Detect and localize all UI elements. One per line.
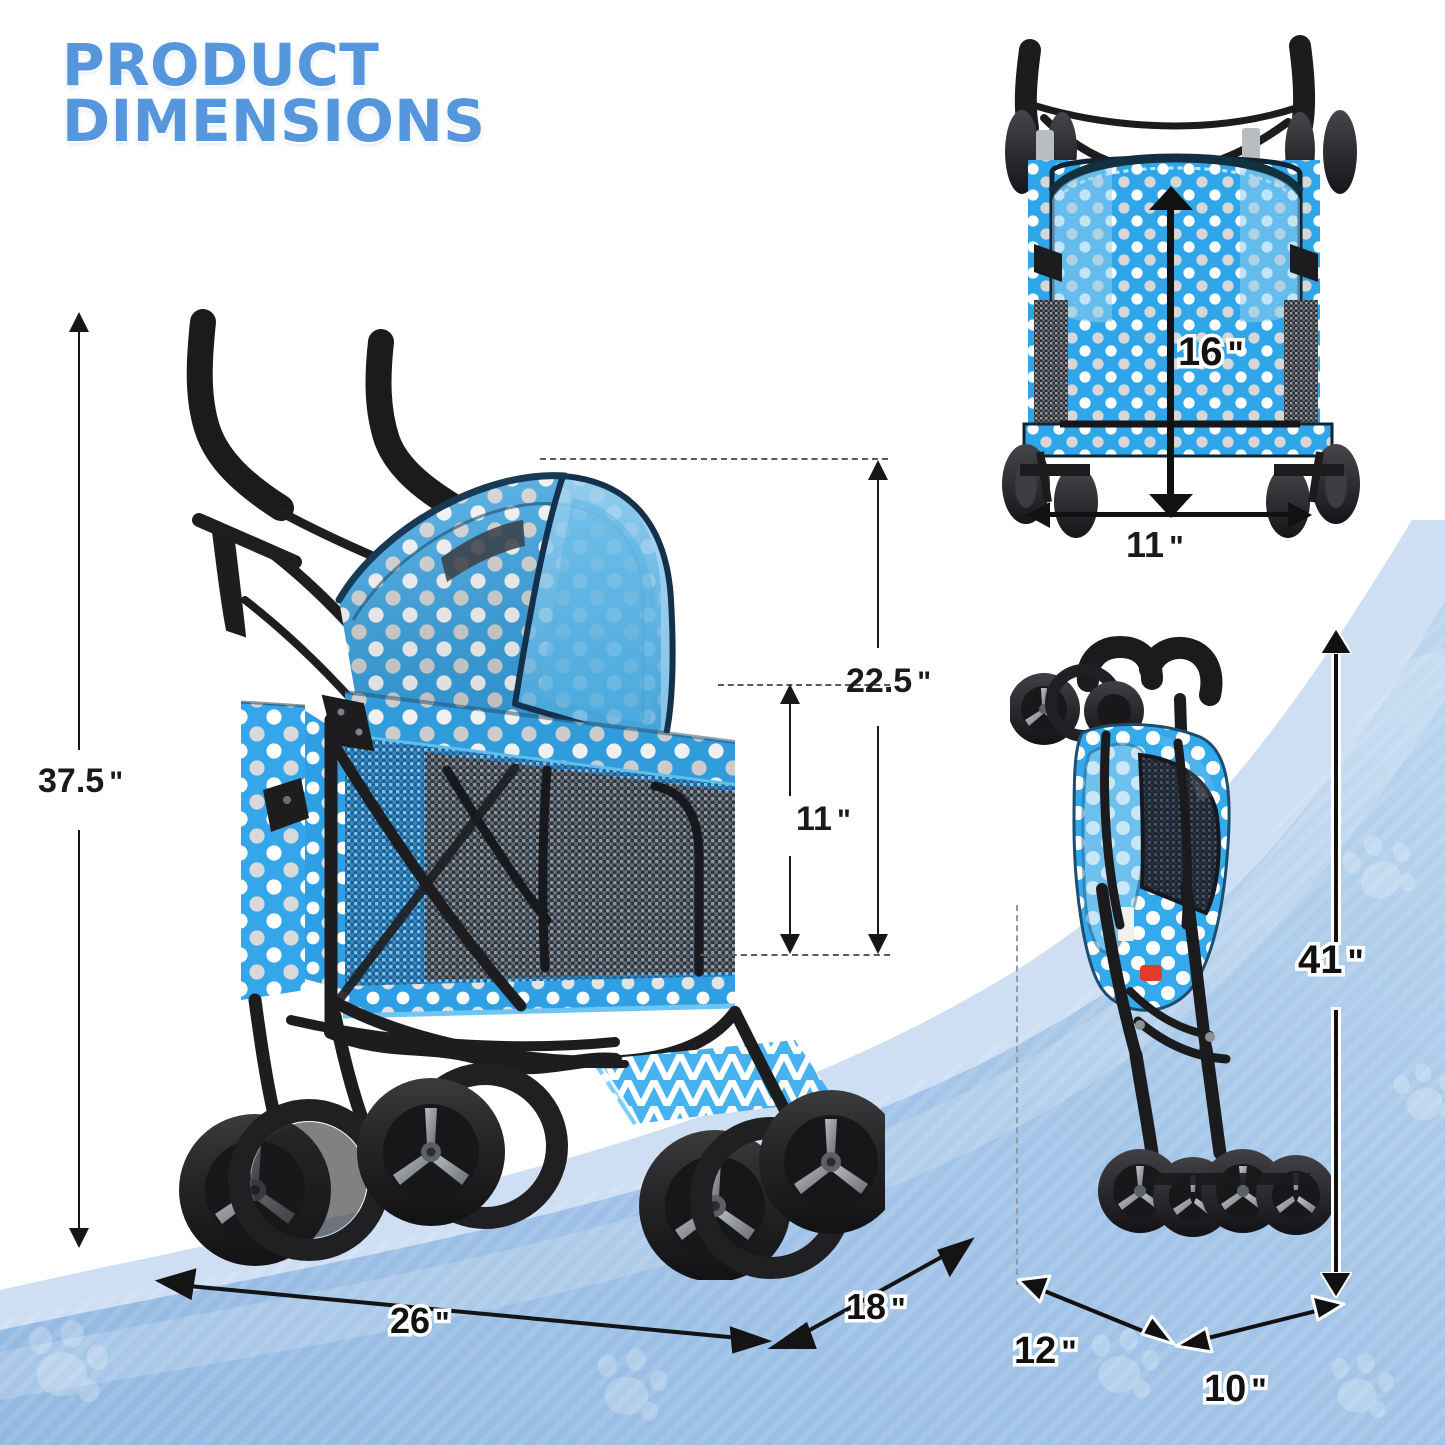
dim-225-arrow-bottom	[868, 934, 888, 954]
dimension-label-cabin-depth: 16"	[1178, 330, 1243, 375]
dimension-label-overall-width: 18"	[846, 1286, 905, 1328]
dim-375-arrow-top	[69, 312, 89, 332]
infographic-canvas: 37.5" 22.5" 11" 26" 18" 16"	[0, 0, 1445, 1445]
guide-canopy-top	[540, 458, 888, 460]
dimension-label-overall-length: 26"	[390, 1300, 449, 1342]
dim-16-arrow-top	[1149, 186, 1193, 210]
dim-225-arrow-top	[868, 460, 888, 480]
dim-11b-arrow-left	[1026, 502, 1050, 528]
dimension-label-overall-height: 37.5"	[38, 762, 122, 801]
dim-225-line-upper	[877, 478, 879, 648]
dim-225-line-lower	[877, 726, 879, 936]
dimension-label-folded-height: 41"	[1298, 938, 1363, 983]
dim-11a-arrow-top	[780, 684, 800, 704]
dimension-label-cabin-height: 11"	[796, 800, 850, 839]
page-title: PRODUCT DIMENSIONS	[62, 38, 486, 149]
dim-16-line	[1167, 208, 1174, 498]
dim-11b-line	[1046, 512, 1292, 517]
stroller-side-view-image	[95, 300, 885, 1280]
dim-41-line-lower	[1334, 1010, 1338, 1280]
dim-375-line-lower	[78, 830, 80, 1230]
dimension-label-folded-width: 10"	[1204, 1368, 1266, 1411]
guide-cabin-bottom	[700, 954, 890, 956]
dim-11a-arrow-bottom	[780, 934, 800, 954]
dim-41-arrow-top	[1320, 628, 1352, 654]
dim-11b-arrow-right	[1288, 502, 1312, 528]
dim-41-line-upper	[1334, 650, 1338, 942]
dim-375-arrow-bottom	[69, 1228, 89, 1248]
dim-375-line-upper	[78, 330, 80, 750]
dim-11a-line-upper	[789, 702, 791, 796]
dimension-label-folded-depth: 12"	[1014, 1330, 1076, 1373]
dim-11a-line-lower	[789, 856, 791, 936]
dimension-label-base-width: 11"	[1126, 524, 1183, 566]
dimension-label-canopy-height: 22.5"	[846, 662, 930, 701]
guide-folded-left	[1016, 905, 1018, 1285]
